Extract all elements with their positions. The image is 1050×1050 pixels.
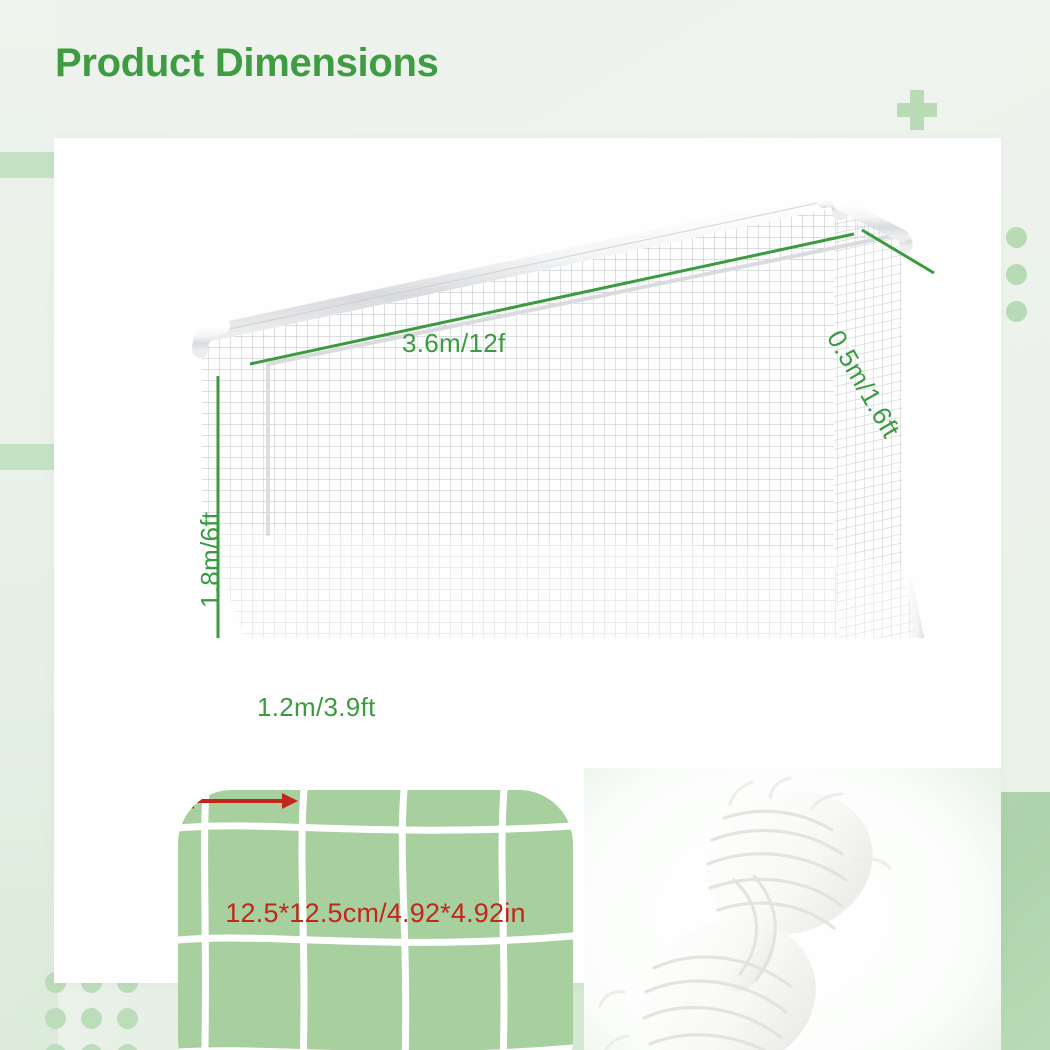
mesh-size-detail-card: 12.5*12.5cm/4.92*4.92in bbox=[178, 790, 573, 1050]
decorative-dots-bottom-left bbox=[45, 972, 138, 1050]
main-content-card: 3.6m/12f 0.5m/1.6ft 1.8m/6ft 1.2m/3.9ft bbox=[54, 138, 1001, 983]
dot bbox=[117, 1008, 138, 1029]
double-headed-arrow-icon bbox=[178, 790, 298, 812]
dot bbox=[117, 1044, 138, 1050]
product-dimensions-infographic: Product Dimensions bbox=[0, 0, 1050, 1050]
plus-icon bbox=[897, 90, 937, 130]
dot bbox=[1006, 227, 1027, 248]
goal-illustration: 3.6m/12f 0.5m/1.6ft 1.8m/6ft 1.2m/3.9ft bbox=[54, 138, 1001, 638]
dimension-label-base: 1.2m/3.9ft bbox=[257, 692, 376, 723]
decorative-dots-right bbox=[1006, 227, 1027, 322]
page-title: Product Dimensions bbox=[55, 41, 439, 86]
net-bundle-image bbox=[584, 768, 1001, 1050]
dimension-label-height: 1.8m/6ft bbox=[195, 512, 226, 608]
dot bbox=[1006, 264, 1027, 285]
mesh-size-label: 12.5*12.5cm/4.92*4.92in bbox=[225, 898, 525, 929]
dot bbox=[1006, 301, 1027, 322]
dot bbox=[45, 1008, 66, 1029]
dot bbox=[81, 1044, 102, 1050]
dimension-label-width: 3.6m/12f bbox=[402, 328, 506, 359]
dot bbox=[81, 1008, 102, 1029]
dot bbox=[45, 1044, 66, 1050]
folded-net-bundle-illustration bbox=[584, 768, 1001, 1050]
